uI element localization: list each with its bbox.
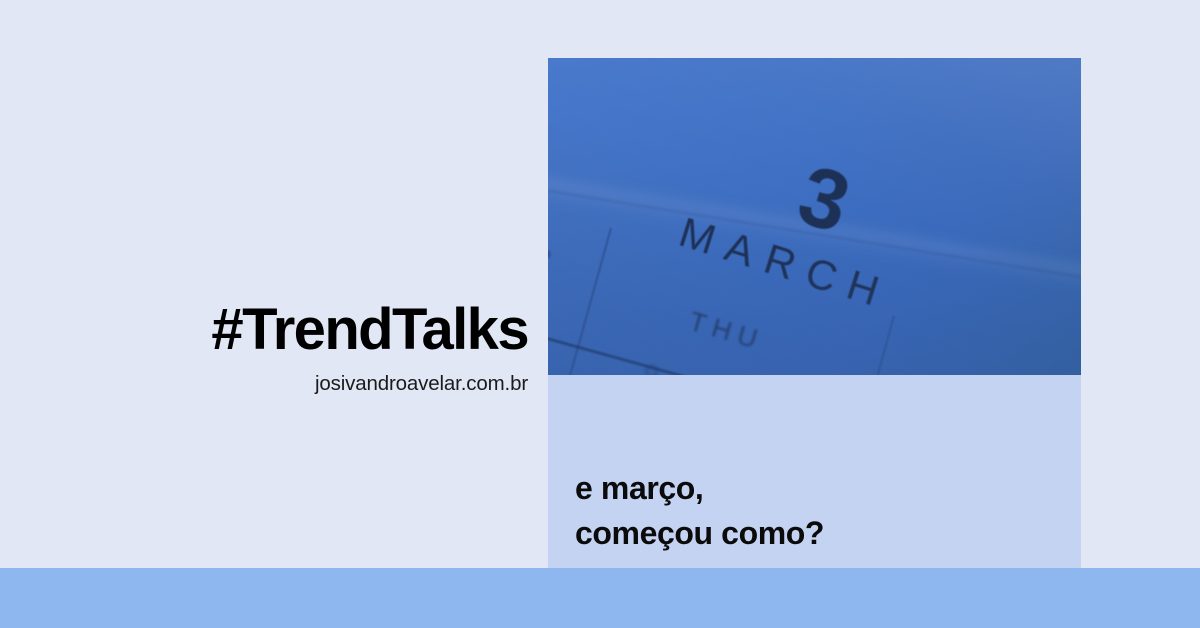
page-title: #TrendTalks [0, 300, 528, 359]
brand-block: #TrendTalks josivandroavelar.com.br [0, 300, 528, 396]
caption-panel: e março, começou como? [548, 375, 1081, 568]
caption-line-2: começou como? [575, 511, 824, 556]
calendar-photo: 2 3 MARCH THU 9 [548, 58, 1081, 375]
social-card: #TrendTalks josivandroavelar.com.br 2 3 … [0, 0, 1200, 628]
caption-line-1: e março, [575, 466, 824, 511]
caption-text: e março, começou como? [575, 466, 824, 557]
bottom-accent-band [0, 568, 1200, 628]
media-composite: 2 3 MARCH THU 9 e março, começou como? [548, 58, 1081, 568]
site-url: josivandroavelar.com.br [0, 373, 528, 396]
